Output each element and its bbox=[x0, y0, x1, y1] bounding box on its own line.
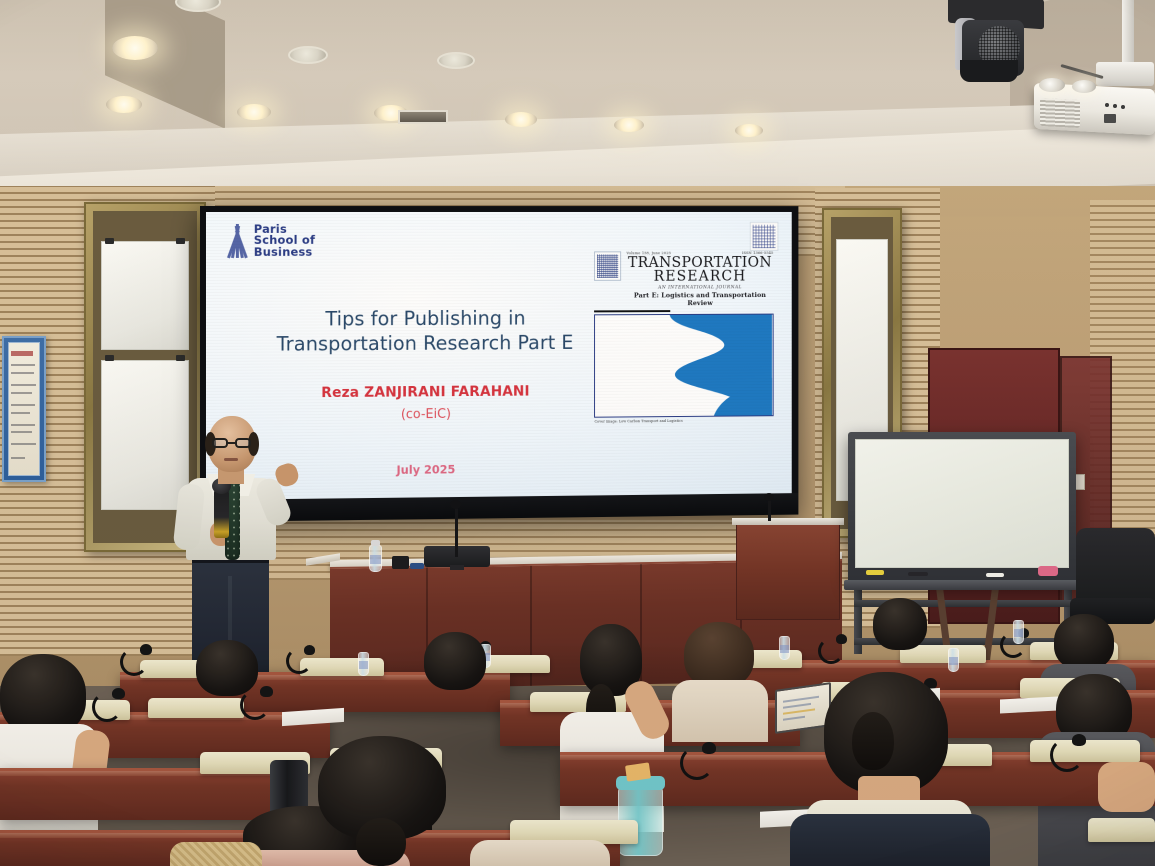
psb-logo-text: Paris School of Business bbox=[254, 223, 315, 257]
eyeglasses-bridge bbox=[228, 442, 235, 444]
whiteboard-marker-tray bbox=[844, 580, 1080, 590]
elsevier-logo-icon bbox=[749, 222, 778, 251]
white-marker[interactable] bbox=[986, 573, 1004, 577]
presenter-eyeglasses-right bbox=[235, 438, 251, 448]
cover-caption: Cover image: Low Carbon Transport and Lo… bbox=[595, 418, 774, 423]
attendee-head bbox=[424, 632, 486, 690]
slide-author: Reza ZANJIRANI FARAHANI bbox=[254, 383, 596, 401]
attendee-head bbox=[196, 640, 258, 696]
presenter-mouth bbox=[224, 458, 238, 461]
lectern-mic-stand[interactable] bbox=[455, 505, 458, 557]
journal-title-line-2: RESEARCH bbox=[626, 270, 773, 285]
downlight-icon bbox=[735, 124, 763, 137]
projector-port bbox=[1104, 114, 1116, 123]
projector-indicator bbox=[1121, 105, 1125, 109]
ceiling-speaker-icon bbox=[437, 52, 475, 69]
seat-back bbox=[148, 698, 244, 718]
audience-desk-row3-left[interactable] bbox=[0, 768, 280, 820]
attendee-head bbox=[1054, 614, 1114, 670]
projector-indicator bbox=[1105, 103, 1109, 107]
lecture-hall-photo: Paris School of Business Tips for Publis… bbox=[0, 0, 1155, 866]
seat-back bbox=[300, 658, 384, 676]
ceiling-speaker-icon bbox=[288, 46, 328, 64]
seat-back bbox=[1088, 818, 1155, 842]
side-podium-mic-head bbox=[764, 493, 774, 501]
microphone-head bbox=[304, 645, 315, 655]
lectern-mic-head bbox=[450, 500, 461, 509]
projector-lens-icon bbox=[1039, 78, 1065, 92]
whiteboard-surface[interactable] bbox=[855, 439, 1069, 568]
projector-grille bbox=[1040, 98, 1080, 128]
downlight-icon bbox=[237, 104, 271, 120]
ceiling-air-vent bbox=[398, 110, 448, 124]
cover-artwork bbox=[595, 313, 774, 417]
microphone-head bbox=[260, 686, 273, 697]
downlight-icon bbox=[505, 112, 537, 127]
presenter-eyeglasses-left bbox=[212, 438, 228, 448]
elsevier-tree-glyph bbox=[752, 224, 775, 247]
projector-lens-icon-2 bbox=[1072, 80, 1096, 93]
water-bottle[interactable] bbox=[369, 545, 382, 572]
water-bottle[interactable] bbox=[1013, 620, 1024, 644]
downlight-icon bbox=[614, 118, 644, 132]
attendee-ponytail bbox=[356, 818, 406, 866]
attendee-head bbox=[684, 622, 754, 688]
projector-mount bbox=[1096, 62, 1154, 86]
attendee-torso bbox=[470, 840, 610, 866]
journal-cover-image: Volume 158, June 2025 ISSN 1366-5545 TRA… bbox=[595, 251, 774, 423]
slide-title-line-1: Tips for Publishing in bbox=[254, 306, 596, 332]
black-marker[interactable] bbox=[908, 572, 928, 576]
attendee-arm bbox=[1098, 762, 1155, 812]
eiffel-tower-icon bbox=[227, 223, 248, 257]
water-bottle[interactable] bbox=[358, 652, 369, 676]
attendee-torso-outer bbox=[790, 814, 990, 866]
water-bottle[interactable] bbox=[779, 636, 790, 660]
elsevier-logo-icon-cover bbox=[595, 252, 622, 282]
attendee-head bbox=[873, 598, 927, 650]
lectern-blue-object bbox=[410, 563, 424, 569]
projector-pole bbox=[1122, 0, 1134, 68]
microphone-head bbox=[140, 644, 152, 655]
psb-line-3: Business bbox=[254, 246, 315, 258]
slide-title-line-2: Transportation Research Part E bbox=[254, 330, 596, 357]
lectern-small-device[interactable] bbox=[392, 556, 409, 569]
paris-school-of-business-logo: Paris School of Business bbox=[227, 223, 315, 258]
tumbler-tag bbox=[625, 762, 651, 781]
downlight-icon bbox=[112, 36, 158, 60]
bottle-cap bbox=[371, 540, 380, 546]
mobile-whiteboard[interactable] bbox=[848, 432, 1076, 584]
straw-bag bbox=[170, 842, 262, 866]
microphone-head bbox=[112, 688, 125, 699]
yellow-marker[interactable] bbox=[866, 570, 884, 575]
cover-rule bbox=[595, 310, 670, 312]
monitor-stand bbox=[450, 565, 464, 570]
attendee-laptop[interactable] bbox=[775, 682, 831, 734]
pink-eraser[interactable] bbox=[1038, 566, 1058, 576]
water-bottle[interactable] bbox=[948, 648, 959, 672]
journal-subtitle: AN INTERNATIONAL JOURNAL bbox=[626, 286, 773, 291]
side-podium-top bbox=[732, 518, 844, 525]
downlight-icon bbox=[106, 96, 142, 113]
microphone-head bbox=[702, 742, 716, 754]
niche-board-upper bbox=[101, 241, 188, 351]
attendee-torso bbox=[672, 680, 768, 742]
attendee-hair-bun bbox=[852, 712, 894, 770]
side-podium bbox=[736, 522, 840, 620]
projector-indicator bbox=[1113, 104, 1117, 108]
microphone-head bbox=[1072, 734, 1086, 746]
camera-shadow bbox=[960, 60, 1018, 82]
journal-part-line: Part E: Logistics and Transportation Rev… bbox=[626, 291, 773, 307]
framed-wall-notice bbox=[2, 336, 46, 482]
microphone-head bbox=[836, 634, 847, 644]
slide-title: Tips for Publishing in Transportation Re… bbox=[254, 306, 596, 357]
